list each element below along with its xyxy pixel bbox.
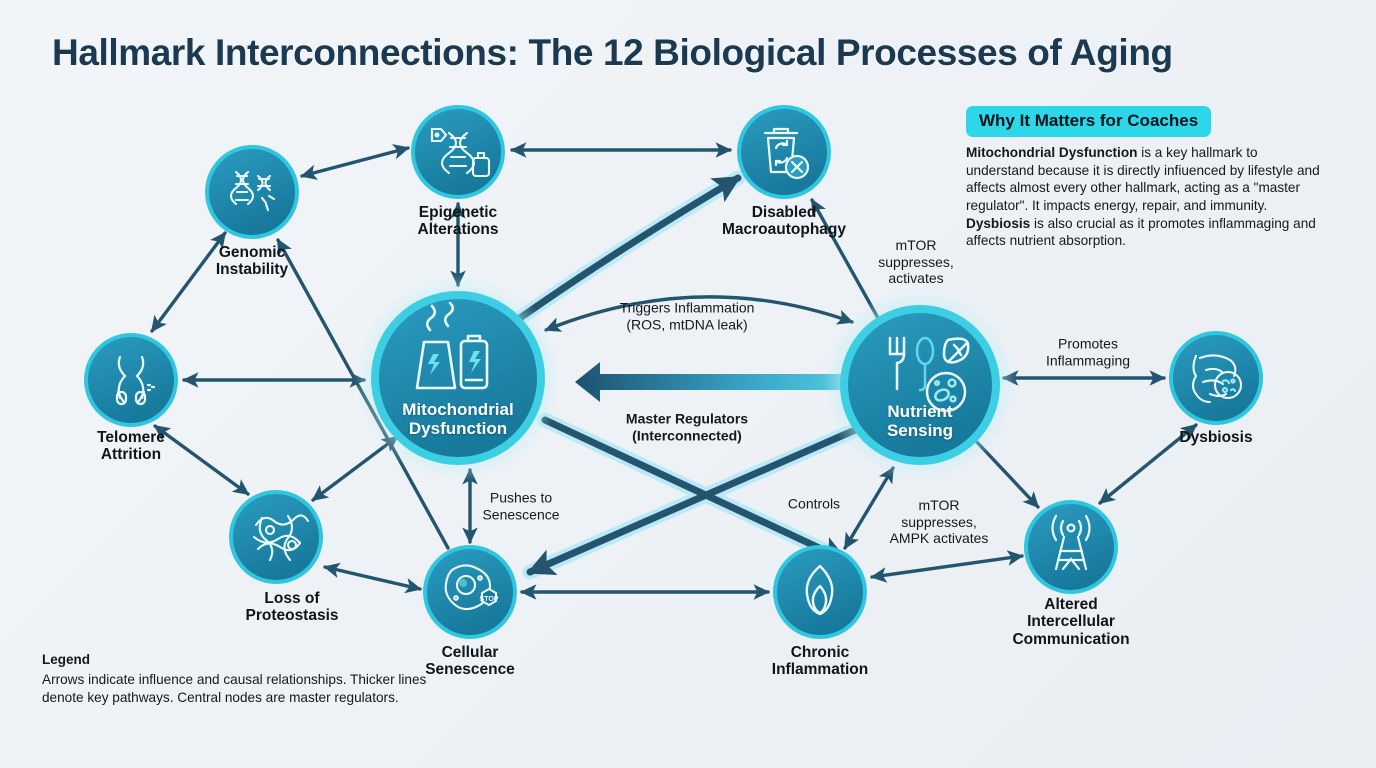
edge-label-pushes-to-senescence: Pushes to Senescence: [482, 489, 559, 522]
node-label-nutrient-sensing: Nutrient Sensing: [887, 402, 953, 440]
edge-proteostasis-senescence: [325, 567, 420, 589]
node-genomic-instability[interactable]: [205, 145, 299, 239]
node-mitochondrial-dysfunction[interactable]: [371, 291, 545, 465]
node-label-mitochondrial-dysfunction: Mitochondrial Dysfunction: [402, 400, 513, 438]
node-chronic-inflammation[interactable]: [773, 545, 867, 639]
edge-inflammation-nutrient: [845, 468, 893, 548]
edge-label-master-regulators: Master Regulators (Interconnected): [626, 410, 748, 443]
edge-label-mtor-ampk: mTOR suppresses, AMPK activates: [890, 497, 989, 547]
edge-label-controls: Controls: [788, 496, 840, 513]
callout-para1-bold: Mitochondrial Dysfunction: [966, 145, 1137, 160]
edge-label-mtor-suppresses-top: mTOR suppresses, activates: [878, 237, 953, 287]
node-nutrient-sensing[interactable]: [840, 305, 1000, 465]
node-cellular-senescence[interactable]: STOP: [423, 545, 517, 639]
node-dysbiosis[interactable]: [1169, 331, 1263, 425]
legend-body: Arrows indicate influence and causal rel…: [42, 671, 442, 707]
node-altered-intercellular-communication[interactable]: [1024, 500, 1118, 594]
infographic-canvas: Hallmark Interconnections: The 12 Biolog…: [0, 0, 1376, 768]
node-label-altered-intercellular-communication: Altered Intercellular Communication: [1012, 596, 1129, 648]
edge-label-promotes-inflammaging: Promotes Inflammaging: [1046, 335, 1130, 368]
svg-text:STOP: STOP: [480, 596, 499, 603]
edge-inflammation-altered: [872, 556, 1022, 577]
node-label-loss-of-proteostasis: Loss of Proteostasis: [245, 590, 338, 625]
callout-heading: Why It Matters for Coaches: [966, 106, 1211, 137]
why-it-matters-callout: Why It Matters for Coaches Mitochondrial…: [966, 106, 1326, 250]
node-label-epigenetic-alterations: Epigenetic Alterations: [418, 204, 499, 239]
edge-telomere-proteostasis: [155, 426, 248, 494]
node-label-genomic-instability: Genomic Instability: [216, 244, 288, 279]
legend: Legend Arrows indicate influence and cau…: [42, 652, 442, 707]
node-disabled-macroautophagy[interactable]: [737, 105, 831, 199]
edge-genomic-epigenetic: [302, 148, 408, 176]
legend-title: Legend: [42, 652, 442, 667]
callout-para2-bold: Dysbiosis: [966, 216, 1030, 231]
node-loss-of-proteostasis[interactable]: [229, 490, 323, 584]
node-label-dysbiosis: Dysbiosis: [1179, 429, 1252, 446]
node-label-telomere-attrition: Telomere Attrition: [97, 429, 165, 464]
edge-genomic-telomere: [152, 233, 225, 331]
node-label-chronic-inflammation: Chronic Inflammation: [772, 644, 868, 679]
node-epigenetic-alterations[interactable]: [411, 105, 505, 199]
node-telomere-attrition[interactable]: [84, 333, 178, 427]
callout-body: Mitochondrial Dysfunction is a key hallm…: [966, 144, 1326, 250]
edge-label-triggers-inflammation: Triggers Inflammation (ROS, mtDNA leak): [620, 299, 755, 332]
node-label-disabled-macroautophagy: Disabled Macroautophagy: [722, 204, 846, 239]
